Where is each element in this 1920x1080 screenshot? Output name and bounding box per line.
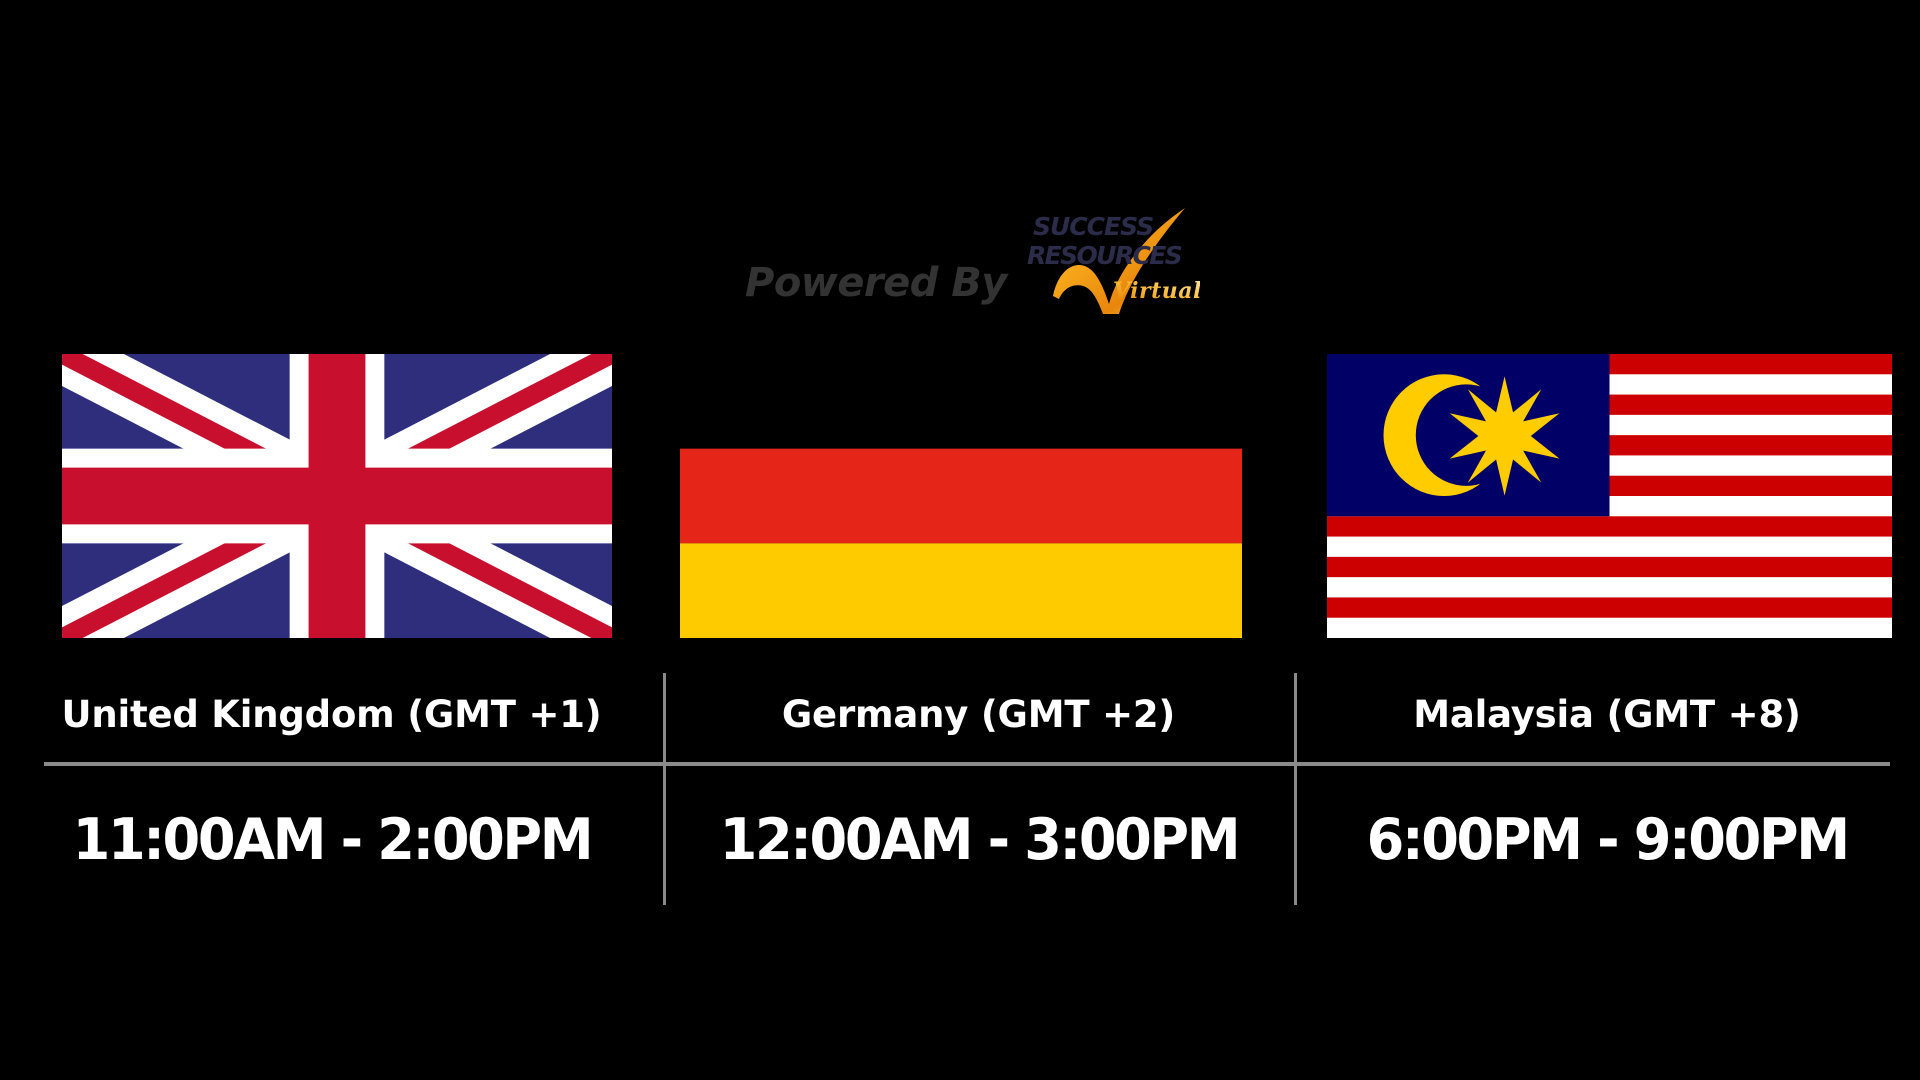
country-label-malaysia: Malaysia (GMT +8) [1413, 696, 1800, 733]
logo-script-word: Virtual [1113, 278, 1200, 304]
time-row: 11:00AM - 2:00PM 12:00AM - 3:00PM 6:00PM… [0, 790, 1920, 890]
success-resources-virtual-logo: SUCCESS RESOURCES Virtual [1025, 200, 1200, 320]
country-label-row: United Kingdom (GMT +1) Germany (GMT +2)… [0, 676, 1920, 752]
time-cell-uk: 11:00AM - 2:00PM [0, 790, 663, 890]
logo-artwork: SUCCESS RESOURCES Virtual [1025, 200, 1200, 320]
poster-canvas: Powered By [0, 0, 1920, 1080]
germany-flag [680, 354, 1242, 638]
powered-by-block: Powered By [745, 200, 1215, 320]
germany-flag-artwork [680, 354, 1242, 638]
united-kingdom-flag [62, 354, 612, 638]
malaysia-flag [1327, 354, 1892, 638]
time-cell-malaysia: 6:00PM - 9:00PM [1294, 790, 1920, 890]
country-label-cell-uk: United Kingdom (GMT +1) [0, 676, 663, 752]
powered-by-label: Powered By [745, 263, 1007, 303]
uk-flag-artwork [62, 354, 612, 638]
horizontal-divider [44, 762, 1890, 766]
time-label-united-kingdom: 11:00AM - 2:00PM [72, 812, 591, 869]
time-label-malaysia: 6:00PM - 9:00PM [1366, 812, 1847, 869]
logo-line2: RESOURCES [1027, 241, 1182, 270]
country-label-cell-germany: Germany (GMT +2) [663, 676, 1294, 752]
country-label-cell-malaysia: Malaysia (GMT +8) [1294, 676, 1920, 752]
country-label-united-kingdom: United Kingdom (GMT +1) [61, 696, 601, 733]
time-label-germany: 12:00AM - 3:00PM [719, 812, 1238, 869]
country-label-germany: Germany (GMT +2) [782, 696, 1175, 733]
time-cell-germany: 12:00AM - 3:00PM [663, 790, 1294, 890]
malaysia-flag-artwork [1327, 354, 1892, 638]
logo-line1: SUCCESS [1033, 212, 1153, 241]
